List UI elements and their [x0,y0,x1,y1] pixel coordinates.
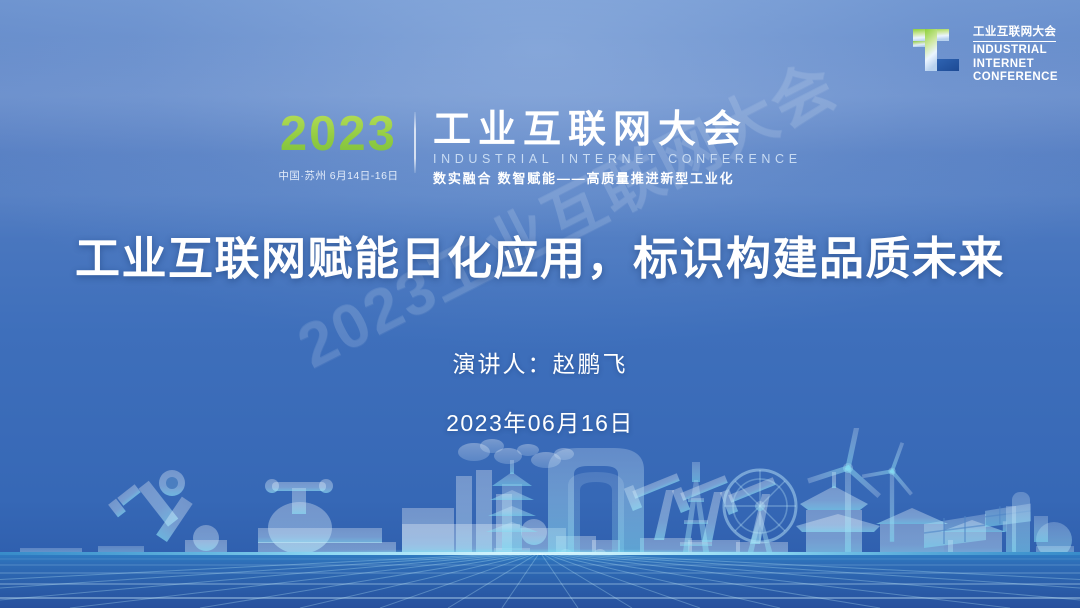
valve-pipe-icon [258,479,396,558]
event-name-en: INDUSTRIAL INTERNET CONFERENCE [433,153,802,166]
storage-tank-icon [1006,492,1074,558]
slide-title: 工业互联网赋能日化应用，标识构建品质未来 [0,222,1080,287]
event-name-cn: 工业互联网大会 [433,110,802,150]
corner-logo-line1: INDUSTRIAL [973,44,1058,57]
lockup-divider [414,112,416,173]
traditional-roof-icon [796,472,1006,558]
event-lockup: 2023 中国·苏州 6月14日-16日 工业互联网大会 INDUSTRIAL … [0,110,1080,185]
corner-logo-line2: INTERNET [973,58,1058,71]
event-year-block: 2023 中国·苏州 6月14日-16日 [278,110,414,183]
industrial-city-skyline [0,428,1080,558]
speaker-block: 演讲人：赵鹏飞 2023年06月16日 [0,345,1080,438]
conference-corner-logo: 工业互联网大会 INDUSTRIAL INTERNET CONFERENCE [910,22,1058,84]
perspective-grid-floor [0,552,1080,608]
watermark-text: 2023工业互联网大会 [280,35,850,385]
event-year: 2023 [280,110,397,159]
industrial-internet-t-mark-icon [910,25,962,81]
robot-arm-icon [108,470,227,558]
presentation-slide: 2023工业互联网大会 工业互联网大会 IN [0,0,1080,608]
event-name-block: 工业互联网大会 INDUSTRIAL INTERNET CONFERENCE 数… [433,110,802,185]
corner-logo-name-cn: 工业互联网大会 [973,26,1056,42]
speaker-name: 演讲人：赵鹏飞 [0,345,1080,379]
event-slogan: 数实融合 数智赋能——高质量推进新型工业化 [433,172,802,185]
corner-logo-line3: CONFERENCE [973,71,1058,84]
event-location-date: 中国·苏州 6月14日-16日 [278,168,398,183]
